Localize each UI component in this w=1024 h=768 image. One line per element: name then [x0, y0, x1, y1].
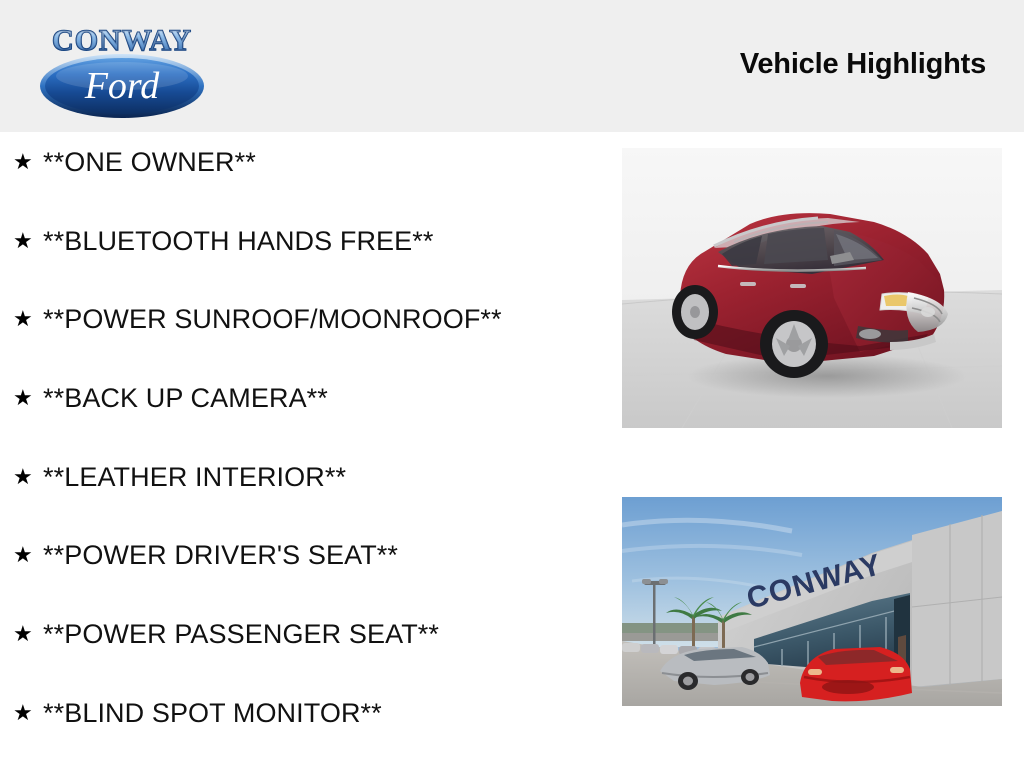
list-item: ★ **LEATHER INTERIOR**	[0, 462, 600, 541]
star-icon: ★	[13, 462, 43, 492]
conway-ford-logo: CONWAY CONWAY Ford	[24, 14, 220, 122]
vehicle-photo-image	[622, 148, 1002, 428]
logo-ford-text: Ford	[84, 65, 161, 107]
highlight-label: **POWER DRIVER'S SEAT**	[43, 540, 398, 570]
vehicle-highlights-page: CONWAY CONWAY Ford Vehicle Highlights ★ …	[0, 0, 1024, 768]
highlight-label: **ONE OWNER**	[43, 147, 256, 177]
list-item: ★ **POWER PASSENGER SEAT**	[0, 619, 600, 698]
svg-text:CONWAY: CONWAY	[52, 24, 192, 57]
star-icon: ★	[13, 540, 43, 570]
highlight-label: **BLIND SPOT MONITOR**	[43, 698, 382, 728]
highlight-label: **BLUETOOTH HANDS FREE**	[43, 226, 434, 256]
page-header: CONWAY CONWAY Ford Vehicle Highlights	[0, 0, 1024, 132]
highlight-label: **POWER SUNROOF/MOONROOF**	[43, 304, 502, 334]
conway-ford-logo-icon: CONWAY CONWAY Ford	[24, 14, 220, 122]
highlight-label: **LEATHER INTERIOR**	[43, 462, 346, 492]
vehicle-photo	[622, 148, 1002, 428]
page-title: Vehicle Highlights	[740, 48, 986, 81]
list-item: ★ **POWER SUNROOF/MOONROOF**	[0, 304, 600, 383]
list-item: ★ **ONE OWNER**	[0, 147, 600, 226]
vehicle-highlights-list: ★ **ONE OWNER** ★ **BLUETOOTH HANDS FREE…	[0, 147, 600, 768]
star-icon: ★	[13, 147, 43, 177]
star-icon: ★	[13, 226, 43, 256]
list-item: ★ **BLUETOOTH HANDS FREE**	[0, 226, 600, 305]
front-wheel	[760, 310, 828, 378]
logo-conway-text: CONWAY CONWAY	[32, 23, 212, 58]
list-item: ★ **POWER DRIVER'S SEAT**	[0, 540, 600, 619]
highlight-label: **POWER PASSENGER SEAT**	[43, 619, 439, 649]
star-icon: ★	[13, 383, 43, 413]
list-item: ★ **BACK UP CAMERA**	[0, 383, 600, 462]
star-icon: ★	[13, 698, 43, 728]
rear-wheel	[672, 285, 718, 339]
star-icon: ★	[13, 304, 43, 334]
highlight-label: **BACK UP CAMERA**	[43, 383, 328, 413]
list-item: ★ **BLIND SPOT MONITOR**	[0, 698, 600, 768]
logo-ford-oval: Ford	[40, 54, 204, 118]
star-icon: ★	[13, 619, 43, 649]
dealership-photo-image: CONWAY	[622, 497, 1002, 706]
dealership-photo: CONWAY	[622, 497, 1002, 706]
